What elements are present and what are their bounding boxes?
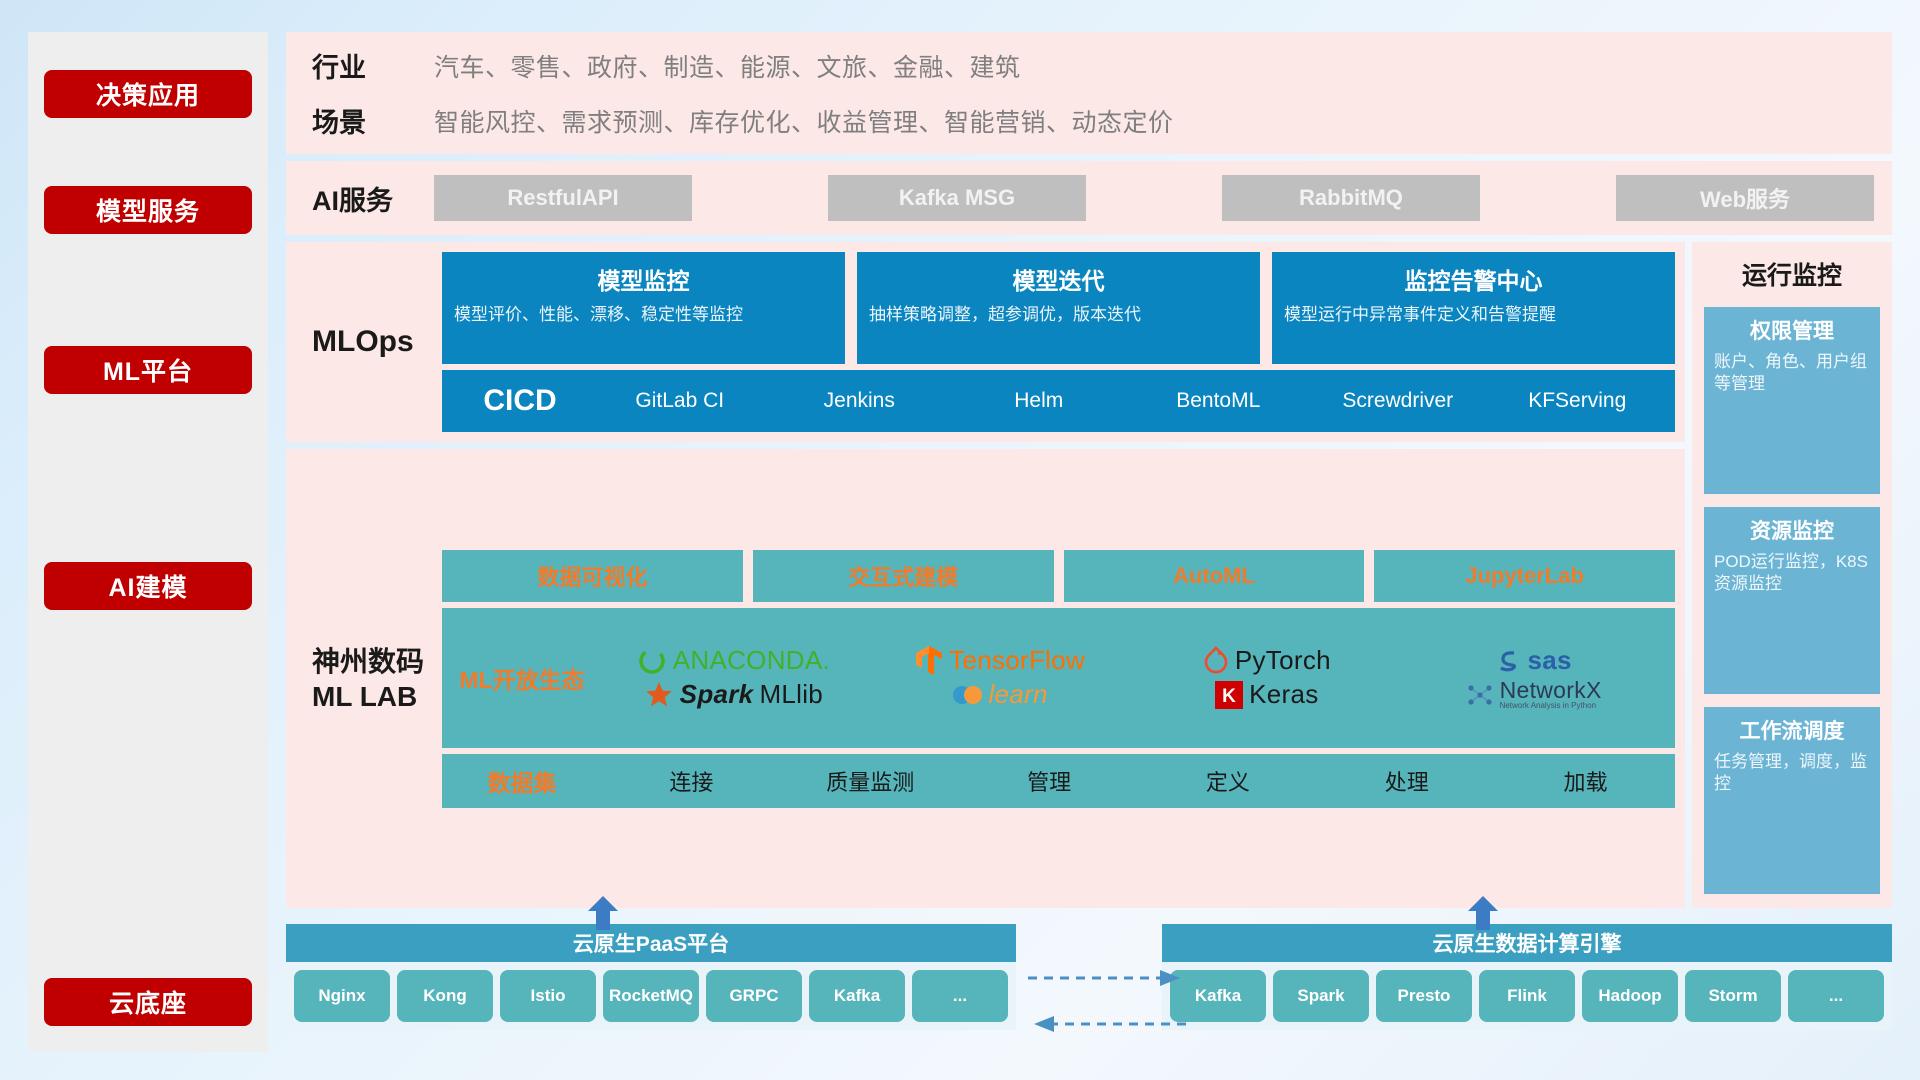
mlops-card-list: 模型监控 模型评价、性能、漂移、稳定性等监控 模型迭代 抽样策略调整，超参调优，… [442,252,1675,364]
paas-chip-istio[interactable]: Istio [500,970,596,1022]
anaconda-logo: ANACONDA. [637,645,830,676]
keras-logo: K Keras [1215,679,1318,710]
spark-icon [644,681,674,709]
ml-lab-tool-list: 数据可视化 交互式建模 AutoML JupyterLab [442,550,1675,602]
paas-chip-list: Nginx Kong Istio RocketMQ GRPC Kafka ... [286,962,1016,1030]
scenario-row: 场景 智能风控、需求预测、库存优化、收益管理、智能营销、动态定价 [312,101,1174,140]
tensorflow-logo: TensorFlow [915,645,1085,677]
runtime-monitoring-panel: 运行监控 权限管理 账户、角色、用户组等管理 资源监控 POD运行监控，K8S资… [1692,242,1892,908]
sas-logo-text: sas [1527,645,1571,676]
mlops-band: MLOps 模型监控 模型评价、性能、漂移、稳定性等监控 模型迭代 抽样策略调整… [286,242,1685,442]
service-chip-kafka-msg[interactable]: Kafka MSG [828,175,1086,221]
keras-logo-text: Keras [1249,679,1318,710]
mlops-card-model-iteration[interactable]: 模型迭代 抽样策略调整，超参调优，版本迭代 [857,252,1260,364]
paas-platform-block: 云原生PaaS平台 Nginx Kong Istio RocketMQ GRPC… [286,924,1016,1030]
mlops-card-alert-center[interactable]: 监控告警中心 模型运行中异常事件定义和告警提醒 [1272,252,1675,364]
ml-lab-label: 神州数码 ML LAB [312,644,442,714]
monitor-card-workflow[interactable]: 工作流调度 任务管理，调度，监控 [1704,707,1880,894]
spark-mllib-logo: Spark MLlib [644,679,823,710]
dataset-item-connect[interactable]: 连接 [602,765,781,797]
card-title: 权限管理 [1714,315,1870,345]
pytorch-logo: PyTorch [1203,645,1331,676]
platform-section: MLOps 模型监控 模型评价、性能、漂移、稳定性等监控 模型迭代 抽样策略调整… [286,242,1892,908]
monitor-card-permission[interactable]: 权限管理 账户、角色、用户组等管理 [1704,307,1880,494]
main-column: 行业 汽车、零售、政府、制造、能源、文旅、金融、建筑 场景 智能风控、需求预测、… [286,32,1892,1052]
industry-label: 行业 [312,46,434,85]
layer-rail: 决策应用 模型服务 ML平台 AI建模 云底座 [28,32,268,1052]
networkx-logo: NetworkX Network Analysis in Python [1466,679,1602,710]
ml-ecosystem-label: ML开放生态 [442,661,602,695]
dataset-item-quality-monitoring[interactable]: 质量监测 [781,765,960,797]
dataset-row: 数据集 连接 质量监测 管理 定义 处理 加载 [442,754,1675,808]
compute-chip-hadoop[interactable]: Hadoop [1582,970,1678,1022]
compute-chip-list: Kafka Spark Presto Flink Hadoop Storm ..… [1162,962,1892,1030]
lab-tool-jupyterlab[interactable]: JupyterLab [1374,550,1675,602]
paas-chip-kafka[interactable]: Kafka [809,970,905,1022]
card-desc: 模型运行中异常事件定义和告警提醒 [1284,304,1663,327]
cicd-item-kfserving[interactable]: KFServing [1488,390,1668,412]
cloud-foundation-section: 云原生PaaS平台 Nginx Kong Istio RocketMQ GRPC… [286,924,1892,1052]
dataset-label: 数据集 [442,764,602,798]
mlops-label: MLOps [312,325,442,359]
card-title: 工作流调度 [1714,715,1870,745]
networkx-logo-text: NetworkX [1500,679,1602,702]
cicd-item-screwdriver[interactable]: Screwdriver [1308,390,1488,412]
scikit-learn-logo: learn [952,679,1047,710]
runtime-monitoring-title: 运行监控 [1704,256,1880,292]
card-desc: 模型评价、性能、漂移、稳定性等监控 [454,304,833,327]
scenario-values: 智能风控、需求预测、库存优化、收益管理、智能营销、动态定价 [434,103,1174,139]
ml-lab-label-line2: ML LAB [312,679,442,714]
industry-rows: 行业 汽车、零售、政府、制造、能源、文旅、金融、建筑 场景 智能风控、需求预测、… [312,46,1174,140]
card-title: 模型监控 [454,262,833,296]
service-chip-web[interactable]: Web服务 [1616,175,1874,221]
card-desc: POD运行监控，K8S资源监控 [1714,551,1870,596]
ai-service-band: AI服务 RestfulAPI Kafka MSG RabbitMQ Web服务 [286,161,1892,235]
dataset-item-manage[interactable]: 管理 [960,765,1139,797]
layer-tag-ai-modeling[interactable]: AI建模 [44,562,252,610]
ml-lab-band: 神州数码 ML LAB 数据可视化 交互式建模 AutoML JupyterLa… [286,449,1685,908]
service-chip-restfulapi[interactable]: RestfulAPI [434,175,692,221]
sas-icon [1495,648,1521,674]
anaconda-icon [637,646,667,676]
cicd-item-gitlab-ci[interactable]: GitLab CI [590,390,770,412]
card-desc: 抽样策略调整，超参调优，版本迭代 [869,304,1248,327]
card-desc: 任务管理，调度，监控 [1714,751,1870,796]
industry-values: 汽车、零售、政府、制造、能源、文旅、金融、建筑 [434,48,1021,84]
anaconda-logo-text: ANACONDA. [673,645,830,676]
lab-tool-interactive-modeling[interactable]: 交互式建模 [753,550,1054,602]
scikit-learn-icon [952,682,982,708]
ml-ecosystem-logo-grid: ANACONDA. TensorFlow [602,645,1665,711]
arrow-up-paas [586,896,620,930]
dashed-arrows-icon [1022,952,1192,1072]
paas-chip-nginx[interactable]: Nginx [294,970,390,1022]
svg-text:K: K [1222,686,1236,707]
networkx-logo-subtext: Network Analysis in Python [1500,702,1602,710]
cicd-item-jenkins[interactable]: Jenkins [770,390,950,412]
compute-engine-block: 云原生数据计算引擎 Kafka Spark Presto Flink Hadoo… [1162,924,1892,1030]
card-title: 模型迭代 [869,262,1248,296]
mlops-card-model-monitoring[interactable]: 模型监控 模型评价、性能、漂移、稳定性等监控 [442,252,845,364]
paas-chip-rocketmq[interactable]: RocketMQ [603,970,699,1022]
dataset-item-load[interactable]: 加载 [1496,765,1675,797]
compute-engine-title: 云原生数据计算引擎 [1162,924,1892,962]
lab-tool-data-visualization[interactable]: 数据可视化 [442,550,743,602]
paas-platform-title: 云原生PaaS平台 [286,924,1016,962]
layer-tag-ml-platform[interactable]: ML平台 [44,346,252,394]
tensorflow-icon [915,645,943,677]
service-chip-rabbitmq[interactable]: RabbitMQ [1222,175,1480,221]
compute-chip-presto[interactable]: Presto [1376,970,1472,1022]
networkx-icon [1466,682,1494,708]
mlops-body: 模型监控 模型评价、性能、漂移、稳定性等监控 模型迭代 抽样策略调整，超参调优，… [442,252,1675,432]
tensorflow-logo-text: TensorFlow [949,645,1085,676]
card-title: 监控告警中心 [1284,262,1663,296]
cicd-item-helm[interactable]: Helm [949,390,1129,412]
paas-chip-kong[interactable]: Kong [397,970,493,1022]
ml-lab-body: 数据可视化 交互式建模 AutoML JupyterLab ML开放生态 ANA… [442,550,1675,808]
monitor-card-resource[interactable]: 资源监控 POD运行监控，K8S资源监控 [1704,507,1880,694]
industry-scenario-band: 行业 汽车、零售、政府、制造、能源、文旅、金融、建筑 场景 智能风控、需求预测、… [286,32,1892,154]
ml-lab-label-line1: 神州数码 [312,644,442,679]
platform-left: MLOps 模型监控 模型评价、性能、漂移、稳定性等监控 模型迭代 抽样策略调整… [286,242,1685,908]
compute-chip-storm[interactable]: Storm [1685,970,1781,1022]
cicd-item-list: GitLab CI Jenkins Helm BentoML Screwdriv… [590,390,1667,412]
pytorch-icon [1203,646,1229,676]
compute-chip-spark[interactable]: Spark [1273,970,1369,1022]
lab-tool-automl[interactable]: AutoML [1064,550,1365,602]
ai-service-chip-list: RestfulAPI Kafka MSG RabbitMQ Web服务 [434,175,1874,221]
cicd-label: CICD [450,384,590,418]
card-desc: 账户、角色、用户组等管理 [1714,351,1870,396]
spark-logo-text: Spark [680,679,754,710]
compute-chip-more[interactable]: ... [1788,970,1884,1022]
scikit-learn-logo-text: learn [988,679,1047,710]
layer-tag-decision[interactable]: 决策应用 [44,70,252,118]
industry-row: 行业 汽车、零售、政府、制造、能源、文旅、金融、建筑 [312,46,1174,85]
dataset-item-process[interactable]: 处理 [1317,765,1496,797]
ml-ecosystem-panel: ML开放生态 ANACONDA. [442,608,1675,748]
layer-tag-cloud-base[interactable]: 云底座 [44,978,252,1026]
compute-chip-flink[interactable]: Flink [1479,970,1575,1022]
dataset-item-define[interactable]: 定义 [1138,765,1317,797]
ai-service-label: AI服务 [312,179,434,218]
paas-chip-more[interactable]: ... [912,970,1008,1022]
cicd-bar: CICD GitLab CI Jenkins Helm BentoML Scre… [442,370,1675,432]
arrow-up-compute [1466,896,1500,930]
scenario-label: 场景 [312,101,434,140]
dataset-item-list: 连接 质量监测 管理 定义 处理 加载 [602,765,1675,797]
mllib-logo-text: MLlib [759,679,823,710]
pytorch-logo-text: PyTorch [1235,645,1331,676]
sas-logo: sas [1495,645,1571,676]
paas-chip-grpc[interactable]: GRPC [706,970,802,1022]
architecture-diagram: 决策应用 模型服务 ML平台 AI建模 云底座 行业 汽车、零售、政府、制造、能… [0,0,1920,1080]
card-title: 资源监控 [1714,515,1870,545]
layer-tag-model-service[interactable]: 模型服务 [44,186,252,234]
cicd-item-bentoml[interactable]: BentoML [1129,390,1309,412]
keras-icon: K [1215,681,1243,709]
